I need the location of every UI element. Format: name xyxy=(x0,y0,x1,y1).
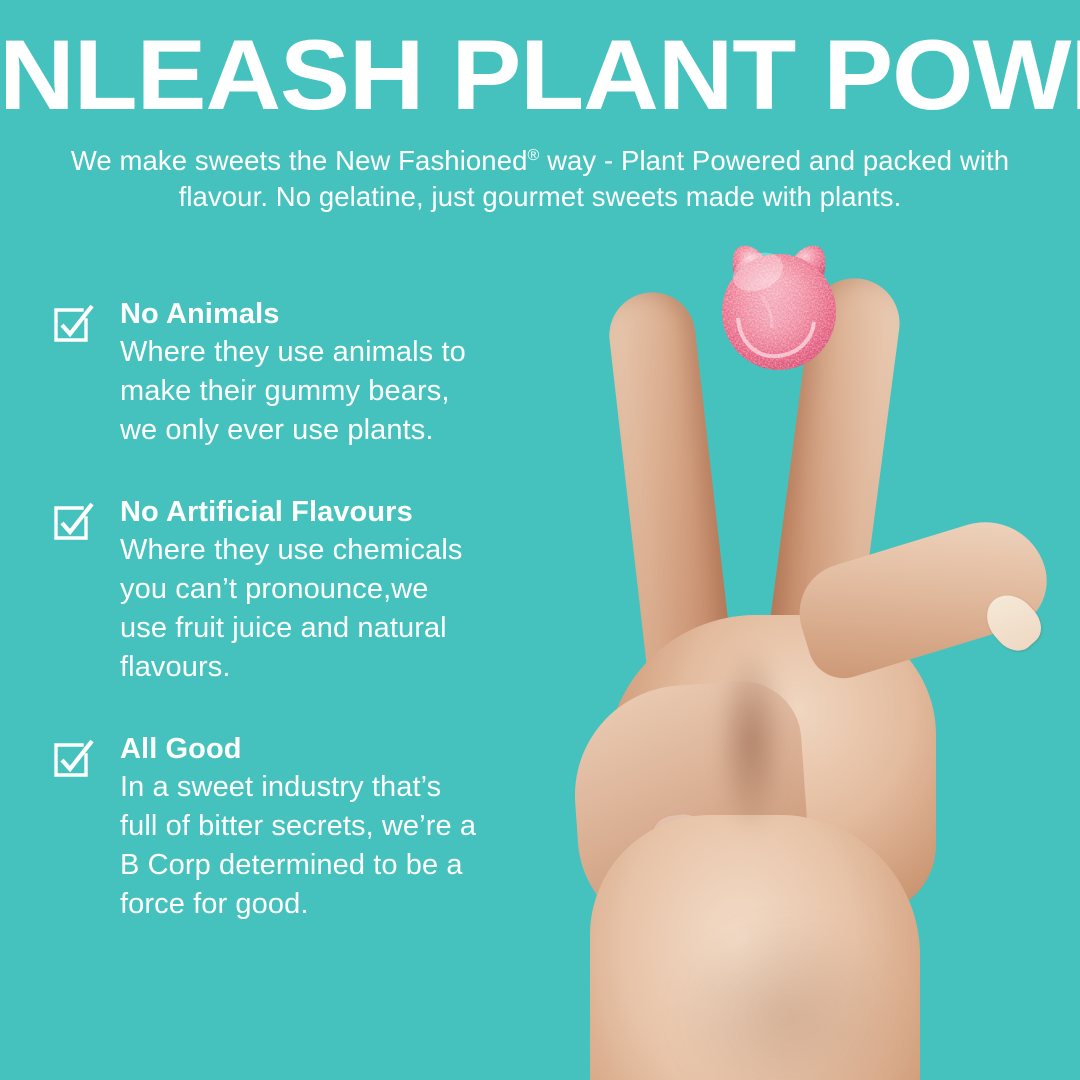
checked-checkbox-icon xyxy=(52,302,94,344)
pink-sugar-coated-gummy-bear-head xyxy=(714,232,844,377)
subheadline: We make sweets the New Fashioned® way - … xyxy=(70,138,1010,215)
list-item-title: No Artificial Flavours xyxy=(120,494,552,530)
list-item: No Animals Where they use animals to mak… xyxy=(52,296,552,450)
list-item: No Artificial Flavours Where they use ch… xyxy=(52,494,552,687)
list-item: All Good In a sweet industry that’s full… xyxy=(52,731,552,924)
list-item-title: All Good xyxy=(120,731,552,767)
gummy-shape xyxy=(714,232,844,377)
list-item-body: In a sweet industry that’s full of bitte… xyxy=(120,768,552,924)
list-item-title: No Animals xyxy=(120,296,552,332)
palm xyxy=(590,815,920,1080)
checked-checkbox-icon xyxy=(52,500,94,542)
benefits-list: No Animals Where they use animals to mak… xyxy=(52,296,552,924)
poster-canvas: UNLEASH PLANT POWER We make sweets the N… xyxy=(0,0,1080,1080)
checked-checkbox-icon xyxy=(52,737,94,779)
registered-trademark-icon: ® xyxy=(527,147,539,164)
subheadline-line1-part1: We make sweets the New Fashioned xyxy=(71,145,528,176)
subheadline-line1-part2: way - Plant Powered and packed xyxy=(539,145,952,176)
list-item-body: Where they use chemicals you can’t prono… xyxy=(120,531,552,687)
list-item-body: Where they use animals to make their gum… xyxy=(120,333,552,450)
page-title: UNLEASH PLANT POWER xyxy=(0,26,1080,125)
